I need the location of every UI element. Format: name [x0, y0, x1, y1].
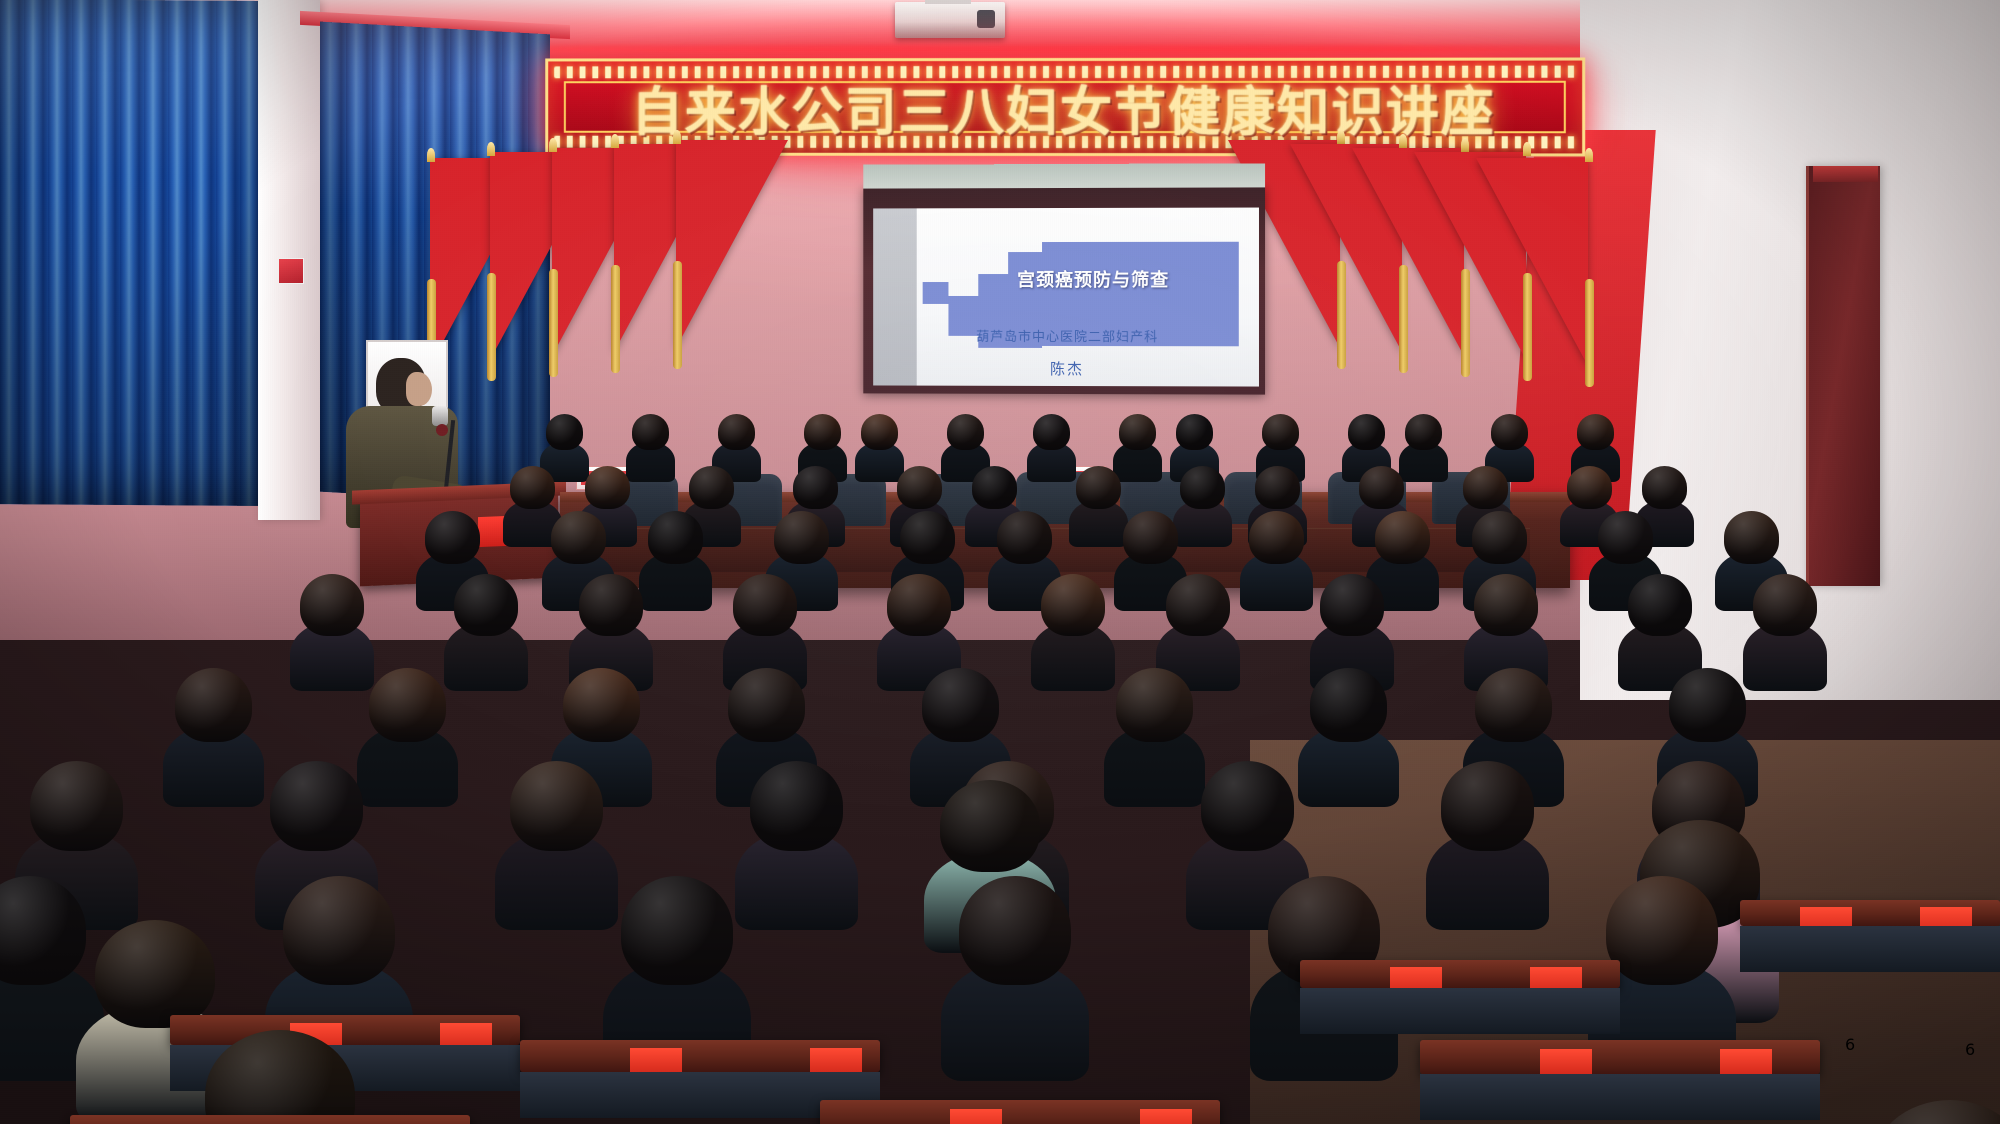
person-hair — [369, 668, 446, 742]
audience-person-r1-4 — [804, 414, 841, 450]
person-hair — [0, 876, 86, 985]
person-hair — [1669, 668, 1746, 742]
audience-bench — [820, 1100, 1220, 1124]
flag-cloth — [1476, 158, 1588, 366]
person-hair — [205, 1030, 355, 1124]
audience-person-r3-11 — [1598, 511, 1653, 564]
audience-person-r7-6 — [1606, 876, 1718, 985]
audience-person-blue-coat — [1870, 1100, 2000, 1124]
projector-mount — [925, 0, 971, 4]
person-hair — [1033, 414, 1070, 450]
person-hair — [1491, 414, 1528, 450]
audience-person-r4-2 — [454, 574, 518, 636]
banner-title-text: 自来水公司三八妇女节健康知识讲座 — [632, 69, 1496, 145]
person-hair — [897, 466, 942, 509]
audience-person-r2-7 — [1076, 466, 1121, 509]
person-hair — [1642, 466, 1687, 509]
person-hair — [1255, 466, 1300, 509]
audience-person-r4-8 — [1320, 574, 1384, 636]
audience-person-r5-9 — [1669, 668, 1746, 742]
audience-person-r6-6 — [1201, 761, 1294, 851]
flag-tip — [1461, 138, 1469, 152]
audience-person-r5-3 — [563, 668, 640, 742]
person-hair — [1348, 414, 1385, 450]
audience-person-r6-3 — [510, 761, 603, 851]
audience-person-r2-2 — [585, 466, 630, 509]
audience-person-teal-coat — [940, 780, 1040, 872]
audience-person-r6-4 — [750, 761, 843, 851]
slide-block-a — [923, 282, 949, 304]
person-hair — [1441, 761, 1534, 851]
person-hair — [546, 414, 583, 450]
flag-tip — [427, 148, 435, 162]
audience-person-r4-3 — [579, 574, 643, 636]
slide-title-text: 宫颈癌预防与筛查 — [968, 266, 1218, 292]
audience-person-r2-11 — [1463, 466, 1508, 509]
person-hair — [175, 668, 252, 742]
flag-tip — [1399, 134, 1407, 148]
presentation-slide: 宫颈癌预防与筛查 葫芦岛市中心医院二部妇产科 陈杰 — [873, 208, 1259, 387]
audience-person-r3-6 — [997, 511, 1052, 564]
audience-bench — [1740, 900, 2000, 926]
person-hair — [1628, 574, 1692, 636]
audience-person-r5-6 — [1116, 668, 1193, 742]
audience-person-r3-5 — [900, 511, 955, 564]
flag-tip — [1523, 142, 1531, 156]
person-hair — [689, 466, 734, 509]
bench-red-tag — [1140, 1109, 1192, 1124]
audience-person-r3-1 — [425, 511, 480, 564]
person-hair — [1320, 574, 1384, 636]
person-hair — [1176, 414, 1213, 450]
audience-person-r5-7 — [1310, 668, 1387, 742]
door-top-trim — [1813, 166, 1878, 182]
screen-top-shade — [863, 163, 1265, 188]
flag-pole — [1585, 279, 1594, 387]
person-hair — [887, 574, 951, 636]
person-hair — [1262, 414, 1299, 450]
audience-person-r4-6 — [1041, 574, 1105, 636]
person-hair — [793, 466, 838, 509]
seat-number-label: 6 — [1845, 1035, 1855, 1054]
audience-person-r1-7 — [1033, 414, 1070, 450]
person-hair — [1475, 668, 1552, 742]
audience-person-r1-8 — [1119, 414, 1156, 450]
audience-person-r6-2 — [270, 761, 363, 851]
person-hair — [1076, 466, 1121, 509]
audience-person-r4-7 — [1166, 574, 1230, 636]
audience-person-r2-4 — [793, 466, 838, 509]
audience-person-r3-7 — [1123, 511, 1178, 564]
audience-person-r2-12 — [1567, 466, 1612, 509]
audience-person-r5-4 — [728, 668, 805, 742]
person-hair — [1116, 668, 1193, 742]
person-hair — [300, 574, 364, 636]
bench-seat-pad — [1300, 988, 1620, 1034]
person-hair — [1405, 414, 1442, 450]
audience-bench — [520, 1040, 880, 1072]
person-hair — [1310, 668, 1387, 742]
person-hair — [621, 876, 733, 985]
audience-person-r5-2 — [369, 668, 446, 742]
audience-person-cream-coat — [95, 920, 215, 1028]
audience-person-r4-10 — [1628, 574, 1692, 636]
audience-bench — [1420, 1040, 1820, 1074]
flag-pole — [611, 265, 620, 373]
audience-person-r2-10 — [1359, 466, 1404, 509]
audience-area: 66 — [0, 400, 2000, 1124]
person-hair — [1041, 574, 1105, 636]
person-hair — [959, 876, 1071, 985]
person-hair — [30, 761, 123, 851]
person-hair — [940, 780, 1040, 872]
audience-person-r3-9 — [1375, 511, 1430, 564]
person-hair — [733, 574, 797, 636]
audience-person-r5-5 — [922, 668, 999, 742]
person-hair — [1577, 414, 1614, 450]
audience-person-r6-7 — [1441, 761, 1534, 851]
person-hair — [804, 414, 841, 450]
audience-person-r7-3 — [621, 876, 733, 985]
audience-person-r3-3 — [648, 511, 703, 564]
person-hair — [1249, 511, 1304, 564]
audience-person-r3-4 — [774, 511, 829, 564]
audience-person-r2-1 — [510, 466, 555, 509]
audience-person-r1-2 — [632, 414, 669, 450]
audience-person-r4-11 — [1753, 574, 1817, 636]
audience-person-r5-8 — [1475, 668, 1552, 742]
audience-person-r1-5 — [861, 414, 898, 450]
person-hair — [750, 761, 843, 851]
audience-person-r1-1 — [546, 414, 583, 450]
person-hair — [1123, 511, 1178, 564]
person-hair — [774, 511, 829, 564]
slide-subtitle-text: 葫芦岛市中心医院二部妇产科 — [903, 326, 1233, 345]
person-hair — [454, 574, 518, 636]
person-hair — [1567, 466, 1612, 509]
person-hair — [1753, 574, 1817, 636]
audience-person-r1-14 — [1577, 414, 1614, 450]
audience-person-r3-12 — [1724, 511, 1779, 564]
flag-tip — [487, 142, 495, 156]
slide-presenter-name: 陈杰 — [903, 358, 1233, 380]
person-hair — [947, 414, 984, 450]
audience-person-r6-1 — [30, 761, 123, 851]
person-hair — [1359, 466, 1404, 509]
audience-person-r2-5 — [897, 466, 942, 509]
person-hair — [1180, 466, 1225, 509]
person-hair — [563, 668, 640, 742]
person-hair — [425, 511, 480, 564]
person-hair — [1201, 761, 1294, 851]
bench-seat-pad — [1420, 1074, 1820, 1120]
person-hair — [1870, 1100, 2000, 1124]
flag-tip — [673, 130, 681, 144]
person-hair — [510, 466, 555, 509]
person-hair — [283, 876, 395, 985]
audience-person-r4-1 — [300, 574, 364, 636]
flag-tip — [1337, 130, 1345, 144]
person-hair — [718, 414, 755, 450]
audience-person-r7-1 — [0, 876, 86, 985]
audience-person-r7-4 — [959, 876, 1071, 985]
banner-inner-panel: 自来水公司三八妇女节健康知识讲座 — [564, 81, 1566, 134]
flag-pole — [673, 261, 682, 369]
flag-cloth — [676, 140, 788, 348]
flag-tip — [1585, 148, 1593, 162]
person-hair — [510, 761, 603, 851]
person-hair — [632, 414, 669, 450]
person-hair — [900, 511, 955, 564]
audience-person-r4-5 — [887, 574, 951, 636]
audience-person-r7-2 — [283, 876, 395, 985]
person-hair — [922, 668, 999, 742]
person-hair — [270, 761, 363, 851]
seat-number-label: 6 — [1965, 1040, 1975, 1059]
audience-bench — [70, 1115, 470, 1124]
person-hair — [648, 511, 703, 564]
projection-screen-frame: 宫颈癌预防与筛查 葫芦岛市中心医院二部妇产科 陈杰 — [863, 185, 1265, 394]
person-hair — [1463, 466, 1508, 509]
audience-person-r1-10 — [1262, 414, 1299, 450]
person-hair — [585, 466, 630, 509]
person-hair — [1724, 511, 1779, 564]
flag-tip — [611, 134, 619, 148]
audience-person-purple-coat — [205, 1030, 355, 1124]
bench-seat-pad — [1740, 926, 2000, 972]
audience-person-r1-12 — [1405, 414, 1442, 450]
person-hair — [551, 511, 606, 564]
bench-red-tag — [950, 1109, 1002, 1124]
person-hair — [579, 574, 643, 636]
audience-person-r1-9 — [1176, 414, 1213, 450]
person-hair — [1472, 511, 1527, 564]
audience-person-r1-13 — [1491, 414, 1528, 450]
person-hair — [1598, 511, 1653, 564]
person-hair — [861, 414, 898, 450]
flag-pole — [487, 273, 496, 381]
audience-person-r1-11 — [1348, 414, 1385, 450]
audience-person-r3-2 — [551, 511, 606, 564]
person-hair — [1474, 574, 1538, 636]
audience-person-r3-8 — [1249, 511, 1304, 564]
person-hair — [1606, 876, 1718, 985]
flag-tip — [549, 138, 557, 152]
photo-scene: 自来水公司三八妇女节健康知识讲座 宫颈癌预防与筛查 葫芦岛市中心医院二部妇产科 … — [0, 0, 2000, 1124]
audience-person-r4-4 — [733, 574, 797, 636]
audience-person-r1-6 — [947, 414, 984, 450]
person-hair — [997, 511, 1052, 564]
audience-person-r4-9 — [1474, 574, 1538, 636]
flag-pole — [549, 269, 558, 377]
person-hair — [1119, 414, 1156, 450]
audience-person-r2-6 — [972, 466, 1017, 509]
person-hair — [95, 920, 215, 1028]
audience-person-r5-1 — [175, 668, 252, 742]
person-hair — [972, 466, 1017, 509]
person-hair — [1375, 511, 1430, 564]
audience-person-r2-13 — [1642, 466, 1687, 509]
audience-person-r2-3 — [689, 466, 734, 509]
person-hair — [1166, 574, 1230, 636]
audience-person-r2-9 — [1255, 466, 1300, 509]
audience-person-r1-3 — [718, 414, 755, 450]
audience-person-r2-8 — [1180, 466, 1225, 509]
person-hair — [728, 668, 805, 742]
audience-bench — [1300, 960, 1620, 988]
wall-sign-red — [278, 258, 304, 284]
audience-person-r3-10 — [1472, 511, 1527, 564]
